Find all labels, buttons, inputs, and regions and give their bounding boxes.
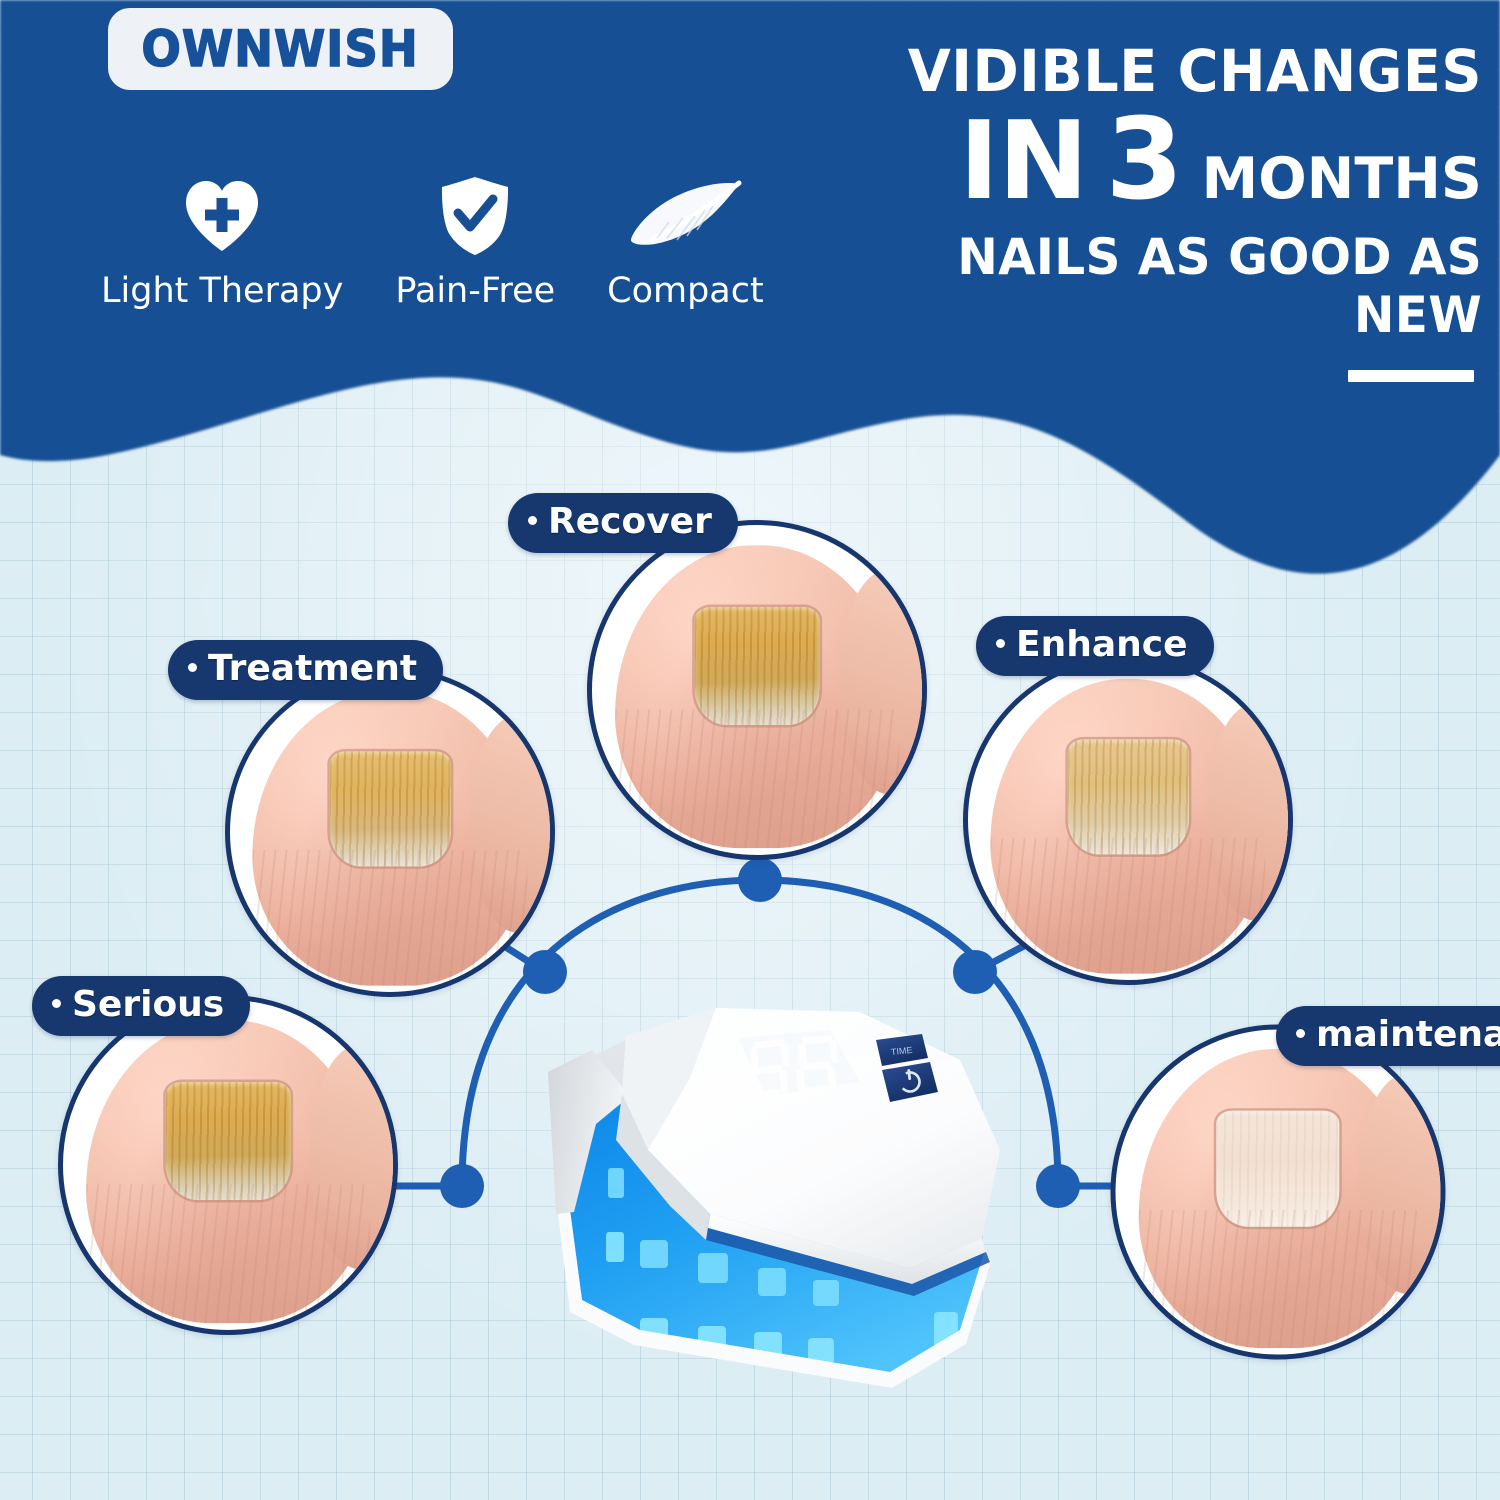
adjacent-toe (310, 1044, 398, 1269)
diagram-node-recover (738, 858, 782, 902)
bullet-dot (996, 639, 1005, 648)
adjacent-toe (1208, 703, 1293, 921)
bullet-dot (188, 663, 197, 672)
nail-plate (1067, 740, 1188, 855)
stage-label-enhance: Enhance (976, 616, 1214, 676)
nail-plate (329, 752, 450, 867)
diagram-node-serious (440, 1164, 484, 1208)
stage-label-serious: Serious (32, 976, 250, 1036)
stage-photo-maintenance (1111, 1025, 1446, 1360)
stage-photo-serious (58, 995, 398, 1335)
nail-plate (1217, 1110, 1340, 1227)
adjacent-toe (1359, 1073, 1445, 1294)
bullet-dot (1296, 1029, 1305, 1038)
nail-therapy-device[interactable]: TIME (530, 1000, 1020, 1420)
stage-photo-recover (587, 520, 927, 860)
stage-photo-treatment (225, 667, 555, 997)
nail-plate (695, 607, 820, 725)
bullet-dot (52, 999, 61, 1008)
stage-label-maintenance: maintenance (1276, 1006, 1500, 1066)
stage-label-text: Enhance (1016, 625, 1188, 665)
toe-image (252, 691, 527, 985)
adjacent-toe (470, 715, 555, 933)
toe-image (615, 545, 899, 849)
diagram-node-enhance (953, 950, 997, 994)
bullet-dot (528, 516, 537, 525)
diagram-node-maintenance (1036, 1164, 1080, 1208)
toe-image (990, 679, 1265, 973)
nail-plate (166, 1082, 291, 1200)
toe-image (86, 1020, 370, 1324)
stage-label-text: Recover (548, 502, 712, 542)
diagram-node-treatment (523, 950, 567, 994)
toe-image (1138, 1049, 1418, 1348)
adjacent-toe (839, 569, 927, 794)
stage-label-text: Serious (72, 985, 224, 1025)
stage-label-text: maintenance (1316, 1015, 1500, 1055)
stage-photo-enhance (963, 655, 1293, 985)
stage-label-recover: Recover (508, 493, 738, 553)
stage-label-text: Treatment (208, 649, 417, 689)
stage-label-treatment: Treatment (168, 640, 443, 700)
